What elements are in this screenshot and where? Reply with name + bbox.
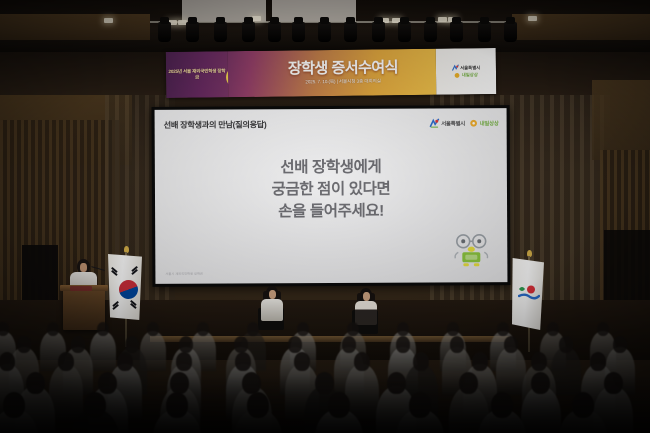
stage-spotlight (186, 22, 199, 42)
audience-member-head (459, 372, 478, 394)
audience-member-head (71, 336, 85, 353)
seoul-emblem-icon (518, 284, 540, 302)
projection-screen-frame: 선배 장학생과의 만남(질의응답) 서울특별시 (152, 105, 511, 287)
audience-member-head (597, 322, 609, 336)
audience-member-head (98, 372, 117, 394)
wall-dark-panel-right (604, 230, 650, 310)
audience-member-head (297, 322, 309, 336)
stage-spotlight (424, 22, 437, 42)
slide-line-1: 선배 장학생에게 (155, 156, 507, 180)
podium-speaker-face (80, 263, 87, 272)
audience-member-head (497, 322, 509, 336)
audience-member-head (590, 352, 606, 371)
audience-member-head (531, 372, 550, 394)
audience-member-head (315, 372, 334, 394)
event-banner: 2025년 서울 재외국민학생 장학금 장학생 증서수여식 2025. 7. 1… (166, 48, 497, 98)
wall-dark-panel-left (22, 245, 58, 308)
panelist-body (355, 301, 377, 325)
audience-member-head (294, 352, 310, 371)
seoul-logo-icon (452, 64, 459, 71)
stage-spotlight (372, 22, 385, 42)
audience-member-head (613, 336, 627, 353)
audience-member-head (397, 322, 409, 336)
audience-member-head (354, 352, 370, 371)
ceiling-downlight (438, 17, 447, 22)
banner-sponsor-primary: 서울특별시 (452, 64, 481, 71)
banner-sponsor-secondary: 내일상상 (454, 72, 478, 78)
banner-title: 장학생 증서수여식 (288, 60, 398, 77)
slide-logos: 서울특별시 내일상상 (430, 118, 499, 128)
banner-subtitle: 2025. 7. 10.(목) | 서울시청 3층 대회의실 (305, 78, 381, 85)
audience-member-head (97, 322, 109, 336)
glasses-mascot-icon (449, 228, 493, 272)
presentation-slide: 선배 장학생과의 만남(질의응답) 서울특별시 (155, 108, 508, 284)
audience-member-body (90, 331, 116, 371)
stage-spotlight (450, 22, 463, 42)
scholarship-logo-icon (470, 119, 478, 127)
audience-member-head (179, 336, 193, 353)
slide-line-3: 손을 들어주세요! (155, 200, 507, 224)
audience-member-head (288, 336, 302, 353)
audience-member-head (572, 392, 594, 418)
banner-center-panel: 장학생 증서수여식 2025. 7. 10.(목) | 서울시청 3층 대회의실 (228, 49, 437, 98)
slide-header: 선배 장학생과의 만남(질의응답) 서울특별시 (164, 116, 499, 132)
audience-member-head (328, 392, 350, 418)
audience-member-head (125, 336, 139, 353)
audience-member-head (147, 322, 159, 336)
slide-body: 선배 장학생에게 궁금한 점이 있다면 손을 들어주세요! (155, 156, 507, 224)
audience-member-head (347, 322, 359, 336)
stage-spotlight (478, 22, 491, 42)
audience-member-head (342, 336, 356, 353)
audience-member-head (170, 372, 189, 394)
audience-member-head (3, 392, 25, 418)
audience-member-head (47, 322, 59, 336)
panelist-face (269, 290, 276, 299)
wall-wood-upper-right (592, 80, 650, 160)
audience-member-head (176, 352, 192, 371)
audience-member-head (604, 372, 623, 394)
panelist-body (261, 299, 283, 321)
stage-spotlight (504, 22, 517, 42)
audience-member-head (472, 352, 488, 371)
ceiling-soffit-left (0, 14, 150, 40)
stage-spotlight (214, 22, 227, 42)
taeguk-symbol (116, 277, 140, 301)
banner-left-panel: 2025년 서울 재외국민학생 장학금 (166, 51, 229, 98)
audience-member-head (387, 372, 406, 394)
audience-member-head (17, 336, 31, 353)
audience-member-head (559, 336, 573, 353)
seoul-city-flag (512, 258, 544, 330)
audience-member-head (531, 352, 547, 371)
auditorium-photo: 2025년 서울 재외국민학생 장학금 장학생 증서수여식 2025. 7. 1… (0, 0, 650, 433)
audience-member-head (58, 352, 74, 371)
stage-spotlight (292, 22, 305, 42)
audience-member-head (247, 322, 259, 336)
audience-member-head (413, 352, 429, 371)
audience-member-head (504, 336, 518, 353)
slide-logo-secondary-text: 내일상상 (480, 119, 499, 127)
seoul-logo-icon (430, 118, 440, 128)
audience-member-head (447, 322, 459, 336)
podium-emblem (70, 286, 92, 291)
audience-member-head (26, 372, 45, 394)
slide-footnote: 서울시 재외국민학생 장학금 (165, 272, 203, 276)
banner-sponsor-secondary-text: 내일상상 (462, 72, 478, 78)
stage-spotlight (268, 22, 281, 42)
slide-header-title: 선배 장학생과의 만남(질의응답) (164, 118, 267, 131)
stage-spotlight (158, 22, 171, 42)
banner-sponsor-panel: 서울특별시 내일상상 (436, 48, 497, 95)
ceiling-downlight (528, 16, 537, 21)
audience-member-head (450, 336, 464, 353)
ceiling-downlight (104, 18, 113, 23)
slide-logo-seoul: 서울특별시 (430, 118, 465, 128)
audience-member-head (166, 392, 188, 418)
slide-line-2: 궁금한 점이 있다면 (155, 178, 507, 202)
audience-member-head (235, 352, 251, 371)
ceiling-acoustic-panel (272, 0, 356, 22)
audience-member-head (491, 392, 513, 418)
audience-member-head (547, 322, 559, 336)
stage-spotlight (344, 22, 357, 42)
scholarship-logo-icon (454, 72, 460, 78)
slide-logo-secondary: 내일상상 (470, 119, 499, 127)
banner-sponsor-primary-text: 서울특별시 (460, 65, 480, 71)
slide-logo-seoul-text: 서울특별시 (441, 119, 465, 127)
audience-member-head (84, 392, 106, 418)
ceiling-downlight (252, 16, 261, 21)
audience-member-head (0, 352, 15, 371)
audience-member-head (197, 322, 209, 336)
audience-member-head (396, 336, 410, 353)
audience-member-head (409, 392, 431, 418)
audience-member-head (247, 392, 269, 418)
audience-member-head (234, 336, 248, 353)
korean-national-flag (108, 254, 142, 320)
stage-spotlight (242, 22, 255, 42)
audience-member-head (117, 352, 133, 371)
stage-spotlight (318, 22, 331, 42)
stage-spotlight (398, 22, 411, 42)
panelist-face (363, 292, 370, 301)
banner-left-text: 2025년 서울 재외국민학생 장학금 (166, 68, 228, 82)
